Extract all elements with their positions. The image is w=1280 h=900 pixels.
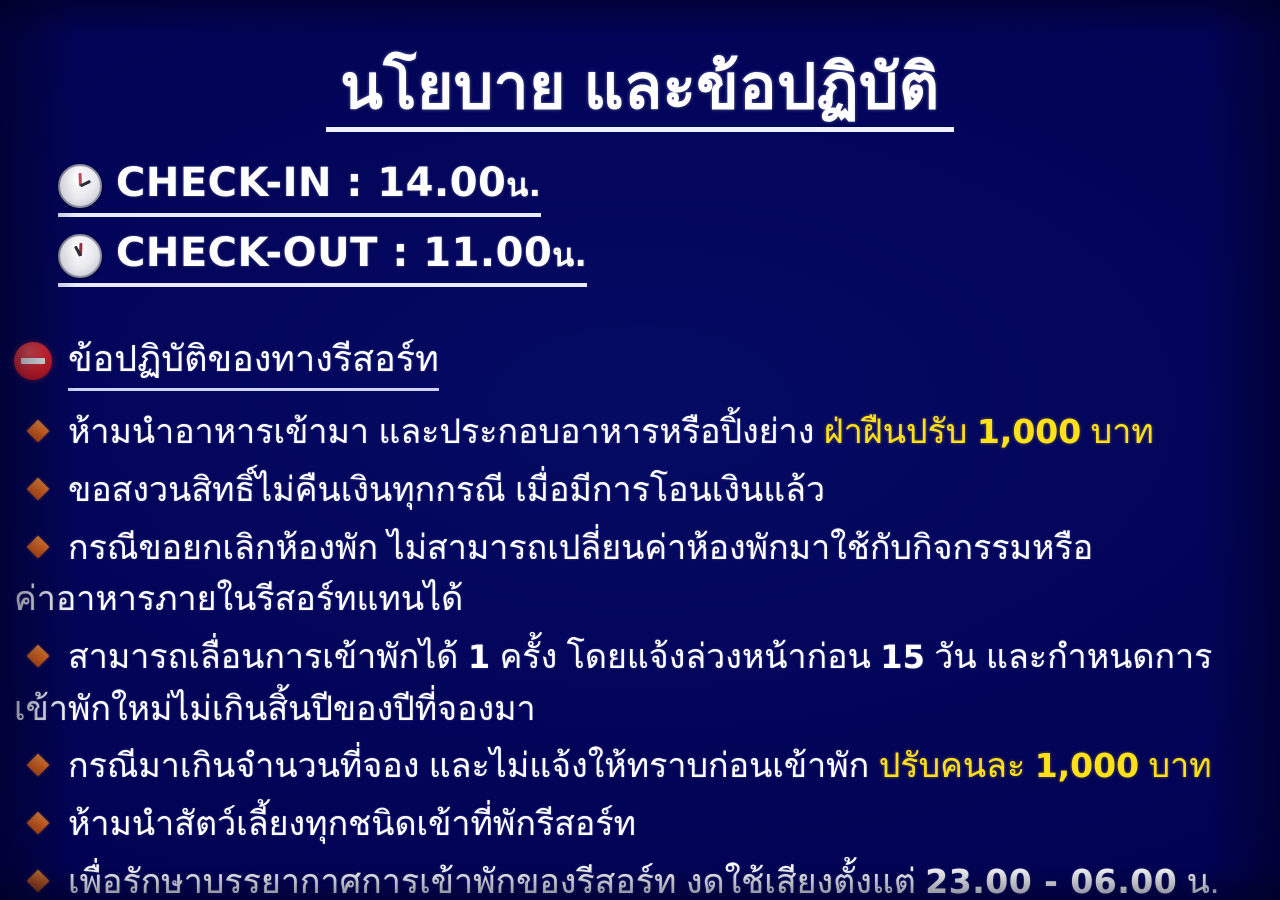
rule-text: สามารถเลื่อนการเข้าพักได้ (68, 638, 458, 676)
orange-diamond-bullet-icon (27, 478, 50, 501)
fine-currency: บาท (1091, 413, 1154, 451)
list-item: เพื่อรักษาบรรยากาศการเข้าพักของรีสอร์ท ง… (14, 857, 1262, 900)
rule-highlight: ฝ่าฝืนปรับ 1,000 บาท (824, 413, 1154, 451)
policy-slide: นโยบาย และข้อปฏิบัติ CHECK-IN : 14.00น. … (0, 0, 1280, 900)
quiet-hours-range: 23.00 - 06.00 (925, 862, 1177, 900)
fine-label: ปรับคนละ (879, 747, 1026, 785)
list-item: สามารถเลื่อนการเข้าพักได้ 1 ครั้ง โดยแจ้… (14, 632, 1262, 735)
check-out-label: CHECK-OUT : 11.00น. (116, 230, 587, 281)
check-in-label: CHECK-IN : 14.00น. (116, 160, 541, 211)
orange-diamond-bullet-icon (27, 645, 50, 668)
postpone-count: 1 (468, 638, 490, 676)
orange-diamond-bullet-icon (27, 869, 50, 892)
fine-label: ฝ่าฝืนปรับ (824, 413, 968, 451)
rule-text: ห้ามนำสัตว์เลี้ยงทุกชนิดเข้าที่พักรีสอร์… (68, 805, 636, 843)
rules-section-heading: ข้อปฏิบัติของทางรีสอร์ท (0, 330, 1280, 391)
list-item: ห้ามนำสัตว์เลี้ยงทุกชนิดเข้าที่พักรีสอร์… (14, 799, 1262, 851)
notice-days: 15 (880, 638, 925, 676)
page-title: นโยบาย และข้อปฏิบัติ (326, 52, 953, 132)
orange-diamond-bullet-icon (27, 812, 50, 835)
check-out-unit: น. (552, 236, 587, 274)
fine-amount: 1,000 (1035, 746, 1139, 785)
rule-text: กรณีขอยกเลิกห้องพัก ไม่สามารถเปลี่ยนค่าห… (68, 529, 1093, 567)
rule-text: เพื่อรักษาบรรยากาศการเข้าพักของรีสอร์ท ง… (68, 863, 916, 900)
clock-two-oclock-icon (58, 164, 102, 208)
check-in-row: CHECK-IN : 14.00น. (58, 160, 541, 217)
clock-eleven-oclock-icon (58, 234, 102, 278)
orange-diamond-bullet-icon (27, 420, 50, 443)
rule-text-part: ครั้ง โดยแจ้งล่วงหน้าก่อน (500, 638, 871, 676)
no-entry-icon (14, 342, 52, 380)
orange-diamond-bullet-icon (27, 535, 50, 558)
rule-text-continued: เข้าพักใหม่ไม่เกินสิ้นปีของปีที่จองมา (14, 684, 1262, 736)
title-container: นโยบาย และข้อปฏิบัติ (0, 0, 1280, 132)
rule-text: ขอสงวนสิทธิ์ไม่คืนเงินทุกกรณี เมื่อมีการ… (68, 471, 825, 509)
list-item: ห้ามนำอาหารเข้ามา และประกอบอาหารหรือปิ้ง… (14, 407, 1262, 459)
orange-diamond-bullet-icon (27, 754, 50, 777)
rules-section-title: ข้อปฏิบัติของทางรีสอร์ท (68, 330, 439, 391)
check-out-row: CHECK-OUT : 11.00น. (58, 230, 587, 287)
rule-highlight: ปรับคนละ 1,000 บาท (879, 747, 1212, 785)
check-times-block: CHECK-IN : 14.00น. CHECK-OUT : 11.00น. (0, 160, 1280, 300)
rules-list: ห้ามนำอาหารเข้ามา และประกอบอาหารหรือปิ้ง… (0, 407, 1280, 900)
list-item: กรณีมาเกินจำนวนที่จอง และไม่แจ้งให้ทราบก… (14, 741, 1262, 793)
fine-amount: 1,000 (977, 412, 1081, 451)
list-item: กรณีขอยกเลิกห้องพัก ไม่สามารถเปลี่ยนค่าห… (14, 523, 1262, 626)
rule-text-part: วัน และกำหนดการ (934, 638, 1212, 676)
rule-text-continued: ค่าอาหารภายในรีสอร์ทแทนได้ (14, 574, 1262, 626)
rule-text: กรณีมาเกินจำนวนที่จอง และไม่แจ้งให้ทราบก… (68, 747, 869, 785)
check-in-unit: น. (506, 166, 541, 204)
rule-text-part: น. (1187, 863, 1220, 900)
list-item: ขอสงวนสิทธิ์ไม่คืนเงินทุกกรณี เมื่อมีการ… (14, 465, 1262, 517)
rule-text: ห้ามนำอาหารเข้ามา และประกอบอาหารหรือปิ้ง… (68, 413, 814, 451)
fine-currency: บาท (1149, 747, 1212, 785)
